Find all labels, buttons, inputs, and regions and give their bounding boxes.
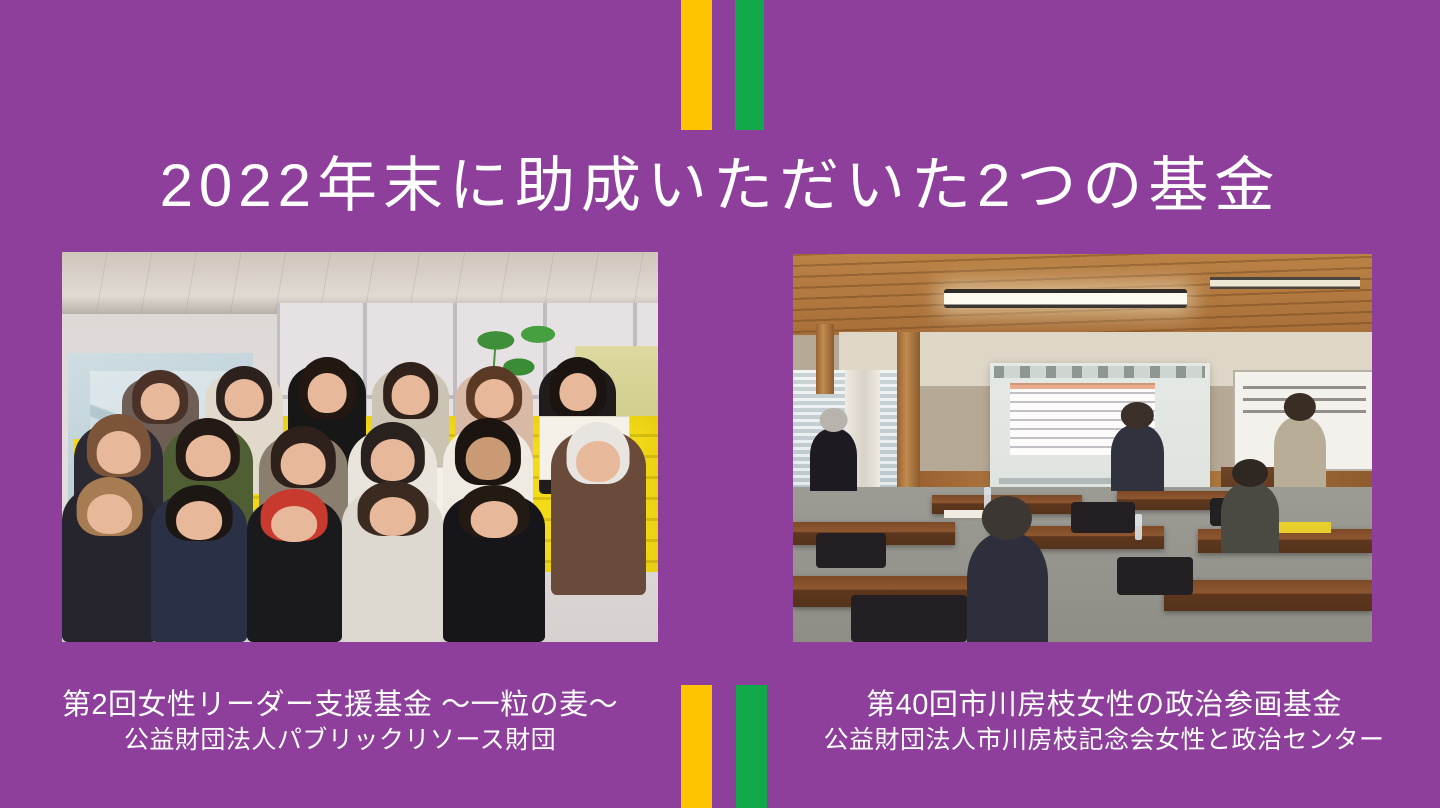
head-shape	[141, 383, 180, 420]
photo-left-person	[551, 431, 646, 595]
photo-right-chair	[851, 595, 967, 642]
head-shape	[471, 501, 518, 538]
photo-left-person	[62, 486, 157, 642]
caption-left-organization: 公益財団法人パブリックリソース財団	[0, 724, 680, 757]
photo-right-paper	[944, 510, 985, 518]
photo-right-attendee	[1221, 483, 1279, 553]
photo-right-lecture-room	[793, 254, 1372, 642]
top-yellow-accent-bar	[681, 0, 712, 130]
photo-right-wood-column	[816, 324, 833, 394]
head-shape	[96, 431, 141, 473]
photo-right-attendee	[1274, 417, 1326, 487]
caption-right-fund-name: 第40回市川房枝女性の政治参画基金	[768, 686, 1440, 724]
head-shape	[819, 408, 848, 433]
photo-right-ceiling-light	[1210, 277, 1361, 289]
head-shape	[224, 379, 263, 418]
photo-left-person	[247, 498, 342, 642]
photo-right-attendee	[967, 533, 1048, 642]
head-shape	[559, 373, 596, 412]
photo-right-chair	[1071, 502, 1135, 533]
head-shape	[176, 501, 222, 540]
caption-left: 第2回女性リーダー支援基金 〜一粒の麦〜 公益財団法人パブリックリソース財団	[0, 686, 680, 757]
page-title: 2022年末に助成いただいた2つの基金	[0, 150, 1440, 222]
bottom-yellow-accent-bar	[681, 685, 712, 808]
photo-right-desk	[1164, 580, 1372, 611]
caption-right: 第40回市川房枝女性の政治参画基金 公益財団法人市川房枝記念会女性と政治センター	[768, 686, 1440, 757]
head-shape	[281, 443, 326, 485]
photo-right-attendee	[1111, 425, 1163, 491]
head-shape	[370, 439, 415, 481]
photo-left-group-ceremony	[62, 252, 658, 642]
photo-left-person	[151, 494, 246, 642]
head-shape	[391, 375, 430, 415]
photo-right-water-bottle	[1135, 514, 1142, 540]
caption-right-organization: 公益財団法人市川房枝記念会女性と政治センター	[768, 724, 1440, 757]
photo-right-screen-toolbar	[994, 366, 1205, 378]
photo-right-ceiling-light	[944, 289, 1187, 308]
head-shape	[272, 506, 318, 542]
head-shape	[308, 373, 347, 413]
photo-right-chair	[816, 533, 885, 568]
head-shape	[475, 379, 514, 418]
photo-right-attendee	[810, 429, 856, 491]
head-shape	[369, 497, 416, 535]
head-shape	[1283, 393, 1315, 421]
bottom-green-accent-bar	[736, 685, 767, 808]
head-shape	[1232, 459, 1268, 487]
presentation-slide: 2022年末に助成いただいた2つの基金	[0, 0, 1440, 808]
caption-left-fund-name: 第2回女性リーダー支援基金 〜一粒の麦〜	[0, 686, 680, 724]
head-shape	[466, 437, 511, 480]
photo-right-yellow-folder	[1279, 522, 1331, 534]
photo-left-person	[443, 494, 544, 642]
top-green-accent-bar	[735, 0, 764, 130]
head-shape	[87, 494, 133, 535]
photo-left-person	[342, 490, 443, 642]
photo-right-projector-screen	[990, 363, 1210, 491]
photo-right-chair	[1117, 557, 1192, 596]
head-shape	[576, 441, 620, 482]
head-shape	[186, 435, 231, 477]
